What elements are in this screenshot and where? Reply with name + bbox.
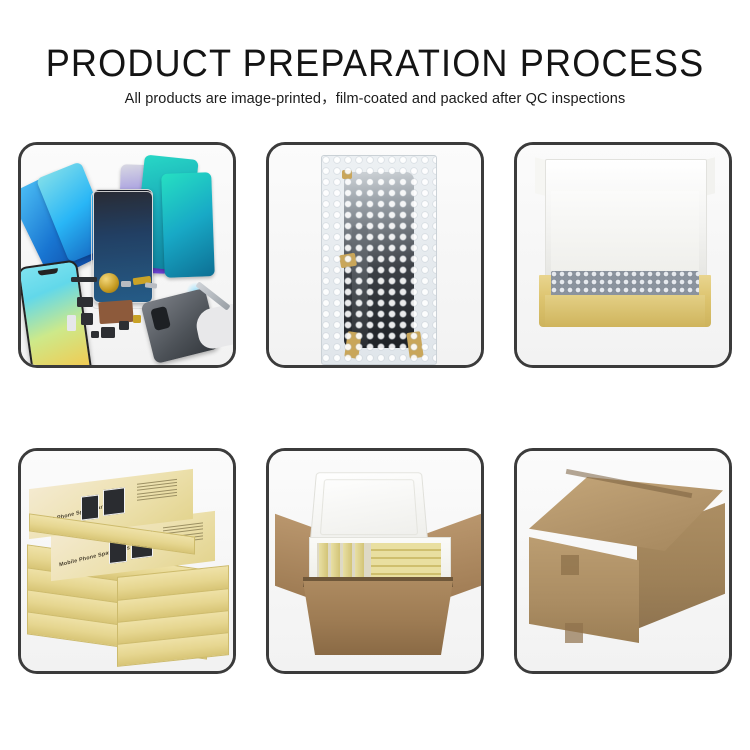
step-panel-5: V	[266, 448, 484, 674]
step-panel-2: II	[266, 142, 484, 368]
step-3-image	[517, 145, 729, 365]
carton-body-icon	[303, 581, 453, 655]
process-step-grid: I II III	[0, 0, 750, 750]
bubble-texture-icon	[322, 156, 436, 364]
box-label-spec-lines-top	[137, 479, 177, 503]
sim-tray-icon	[67, 315, 76, 331]
camera-module-icon	[150, 306, 171, 331]
screw-icon	[133, 315, 141, 323]
step-2-image	[269, 145, 481, 365]
metal-bracket-icon	[121, 281, 131, 287]
tempered-glass-icon	[91, 191, 153, 309]
phone-notch-icon	[38, 268, 59, 276]
vibration-motor-icon	[101, 327, 115, 338]
step-4-image: Mobile Phone Spare Parts Mobile Phone Sp…	[21, 451, 233, 671]
sealed-carton-front-face	[529, 537, 639, 643]
ic-chip-icon	[81, 313, 93, 325]
sensor-icon	[91, 331, 99, 338]
phone-green-icon	[161, 172, 215, 278]
box-label-thumb-a-top	[81, 494, 99, 520]
bubble-wrap-bag-icon	[321, 155, 437, 365]
step-panel-4: Mobile Phone Spare Parts Mobile Phone Sp…	[18, 448, 236, 674]
step-1-image	[21, 145, 233, 365]
button-flex-icon	[119, 321, 129, 330]
foam-lid-icon	[310, 472, 429, 543]
box-label-thumb-b-top	[103, 487, 125, 516]
small-chip-icon	[77, 297, 93, 307]
step-5-image	[269, 451, 481, 671]
kraft-box-front-icon	[545, 295, 705, 327]
step-panel-3: III	[514, 142, 732, 368]
foam-sheet-icon	[551, 191, 699, 279]
step-6-image	[517, 451, 729, 671]
chip-bar-icon	[71, 277, 97, 282]
speaker-coil-icon	[99, 273, 119, 293]
carton-tape-lower-icon	[565, 623, 583, 643]
step-panel-1: I	[18, 142, 236, 368]
carton-tape-upper-icon	[561, 555, 579, 575]
step-panel-6: VI	[514, 448, 732, 674]
